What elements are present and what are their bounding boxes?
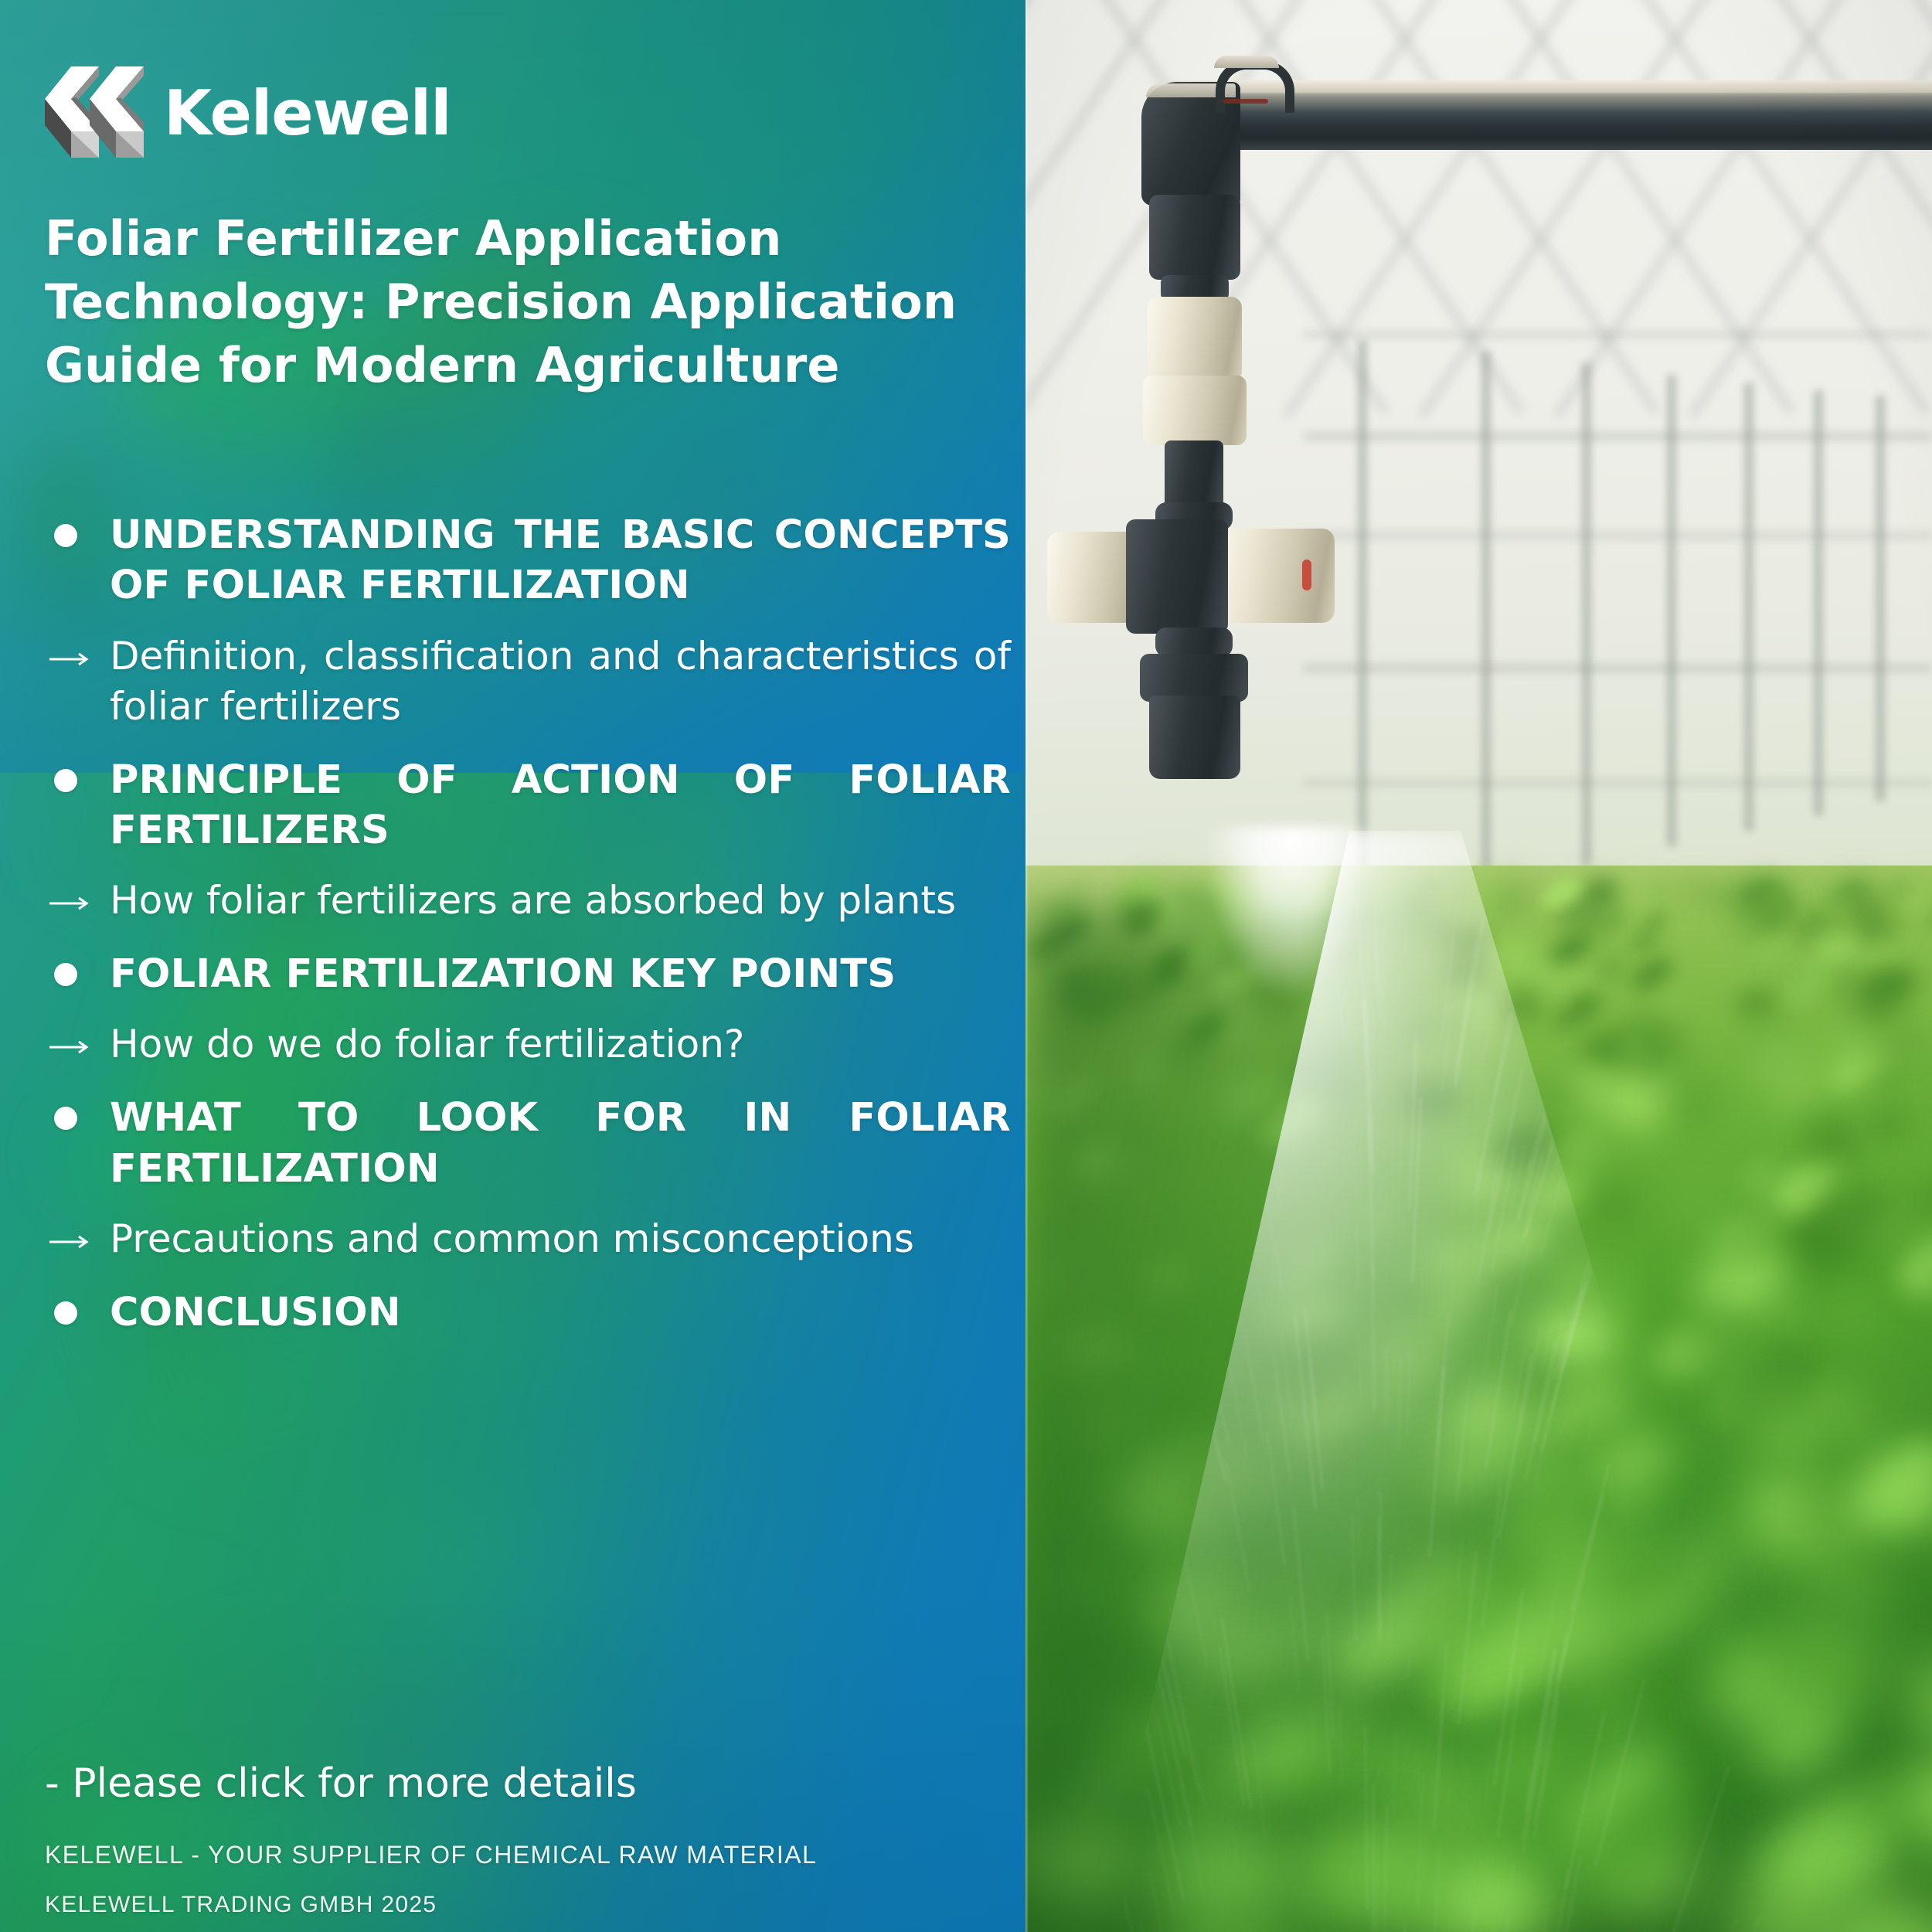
section-sub-row[interactable]: Definition, classification and character… xyxy=(45,631,1011,732)
nozzle-crossbody xyxy=(1126,519,1228,634)
filled-circle-bullet-icon xyxy=(54,1107,77,1130)
right-arrow-icon xyxy=(49,894,93,913)
left-panel-content: Kelewell Foliar Fertilizer Application T… xyxy=(0,0,1026,1932)
right-arrow-icon xyxy=(49,650,93,668)
footer-tagline: KELEWELL - YOUR SUPPLIER OF CHEMICAL RAW… xyxy=(45,1841,817,1869)
pipe-clip-top xyxy=(1214,56,1279,68)
panel-divider xyxy=(1026,0,1029,1932)
pipe-clip xyxy=(1216,60,1294,113)
pipe-clip-marking xyxy=(1223,99,1268,104)
section-heading-row[interactable]: FOLIAR FERTILIZATION KEY POINTS xyxy=(45,949,1011,999)
double-chevron-logo-icon xyxy=(45,66,144,158)
section-heading: FOLIAR FERTILIZATION KEY POINTS xyxy=(110,949,1011,999)
section-heading: CONCLUSION xyxy=(110,1287,1011,1338)
section-sub-row[interactable]: Precautions and common misconceptions xyxy=(45,1214,1011,1264)
page-title: Foliar Fertilizer Application Technology… xyxy=(45,207,1007,396)
section-heading-row[interactable]: PRINCIPLE OF ACTION OF FOLIAR FERTILIZER… xyxy=(45,755,1011,856)
section-sub-row[interactable]: How foliar fertilizers are absorbed by p… xyxy=(45,876,1011,926)
section-heading-row[interactable]: CONCLUSION xyxy=(45,1287,1011,1338)
filled-circle-bullet-icon xyxy=(54,769,77,792)
section-heading: UNDERSTANDING THE BASIC CONCEPTS OF FOLI… xyxy=(110,510,1011,611)
section-heading: WHAT TO LOOK FOR IN FOLIAR FERTILIZATION xyxy=(110,1093,1011,1194)
brand-wordmark: Kelewell xyxy=(164,83,451,145)
filled-circle-bullet-icon xyxy=(54,1301,77,1325)
greenhouse-sprayer-photo xyxy=(1026,0,1932,1932)
nozzle-body-cream-upper xyxy=(1148,297,1242,382)
nozzle-ring-lower xyxy=(1155,628,1233,657)
nozzle-collar-upper xyxy=(1149,195,1240,280)
hero-photo-panel xyxy=(1026,0,1932,1932)
section-subtext: Definition, classification and character… xyxy=(110,631,1011,732)
topics-list: UNDERSTANDING THE BASIC CONCEPTS OF FOLI… xyxy=(45,510,1011,1358)
section-sub-row[interactable]: How do we do foliar fertilization? xyxy=(45,1019,1011,1070)
right-arrow-icon xyxy=(49,1038,93,1056)
nozzle-body-cream-lower xyxy=(1143,376,1247,445)
nozzle-outlet-collar xyxy=(1140,654,1248,702)
cta-link[interactable]: - Please click for more details xyxy=(45,1760,972,1808)
infographic-poster: Kelewell Foliar Fertilizer Application T… xyxy=(0,0,1932,1932)
nozzle-outlet-tip xyxy=(1149,696,1240,779)
nozzle-cap-right xyxy=(1217,529,1335,623)
section-subtext: How foliar fertilizers are absorbed by p… xyxy=(110,876,1011,926)
section-heading-row[interactable]: UNDERSTANDING THE BASIC CONCEPTS OF FOLI… xyxy=(45,510,1011,611)
filled-circle-bullet-icon xyxy=(54,524,77,547)
section-subtext: Precautions and common misconceptions xyxy=(110,1214,1011,1264)
left-content-panel: Kelewell Foliar Fertilizer Application T… xyxy=(0,0,1026,1932)
nozzle-red-marker xyxy=(1302,560,1311,590)
section-subtext: How do we do foliar fertilization? xyxy=(110,1019,1011,1070)
filled-circle-bullet-icon xyxy=(54,963,77,986)
nozzle-stem xyxy=(1165,440,1223,509)
right-arrow-icon xyxy=(49,1233,93,1251)
section-heading-row[interactable]: WHAT TO LOOK FOR IN FOLIAR FERTILIZATION xyxy=(45,1093,1011,1194)
brand-logo[interactable]: Kelewell xyxy=(45,66,451,158)
section-heading: PRINCIPLE OF ACTION OF FOLIAR FERTILIZER… xyxy=(110,755,1011,856)
footer-copyright: KELEWELL TRADING GMBH 2025 xyxy=(45,1892,437,1918)
